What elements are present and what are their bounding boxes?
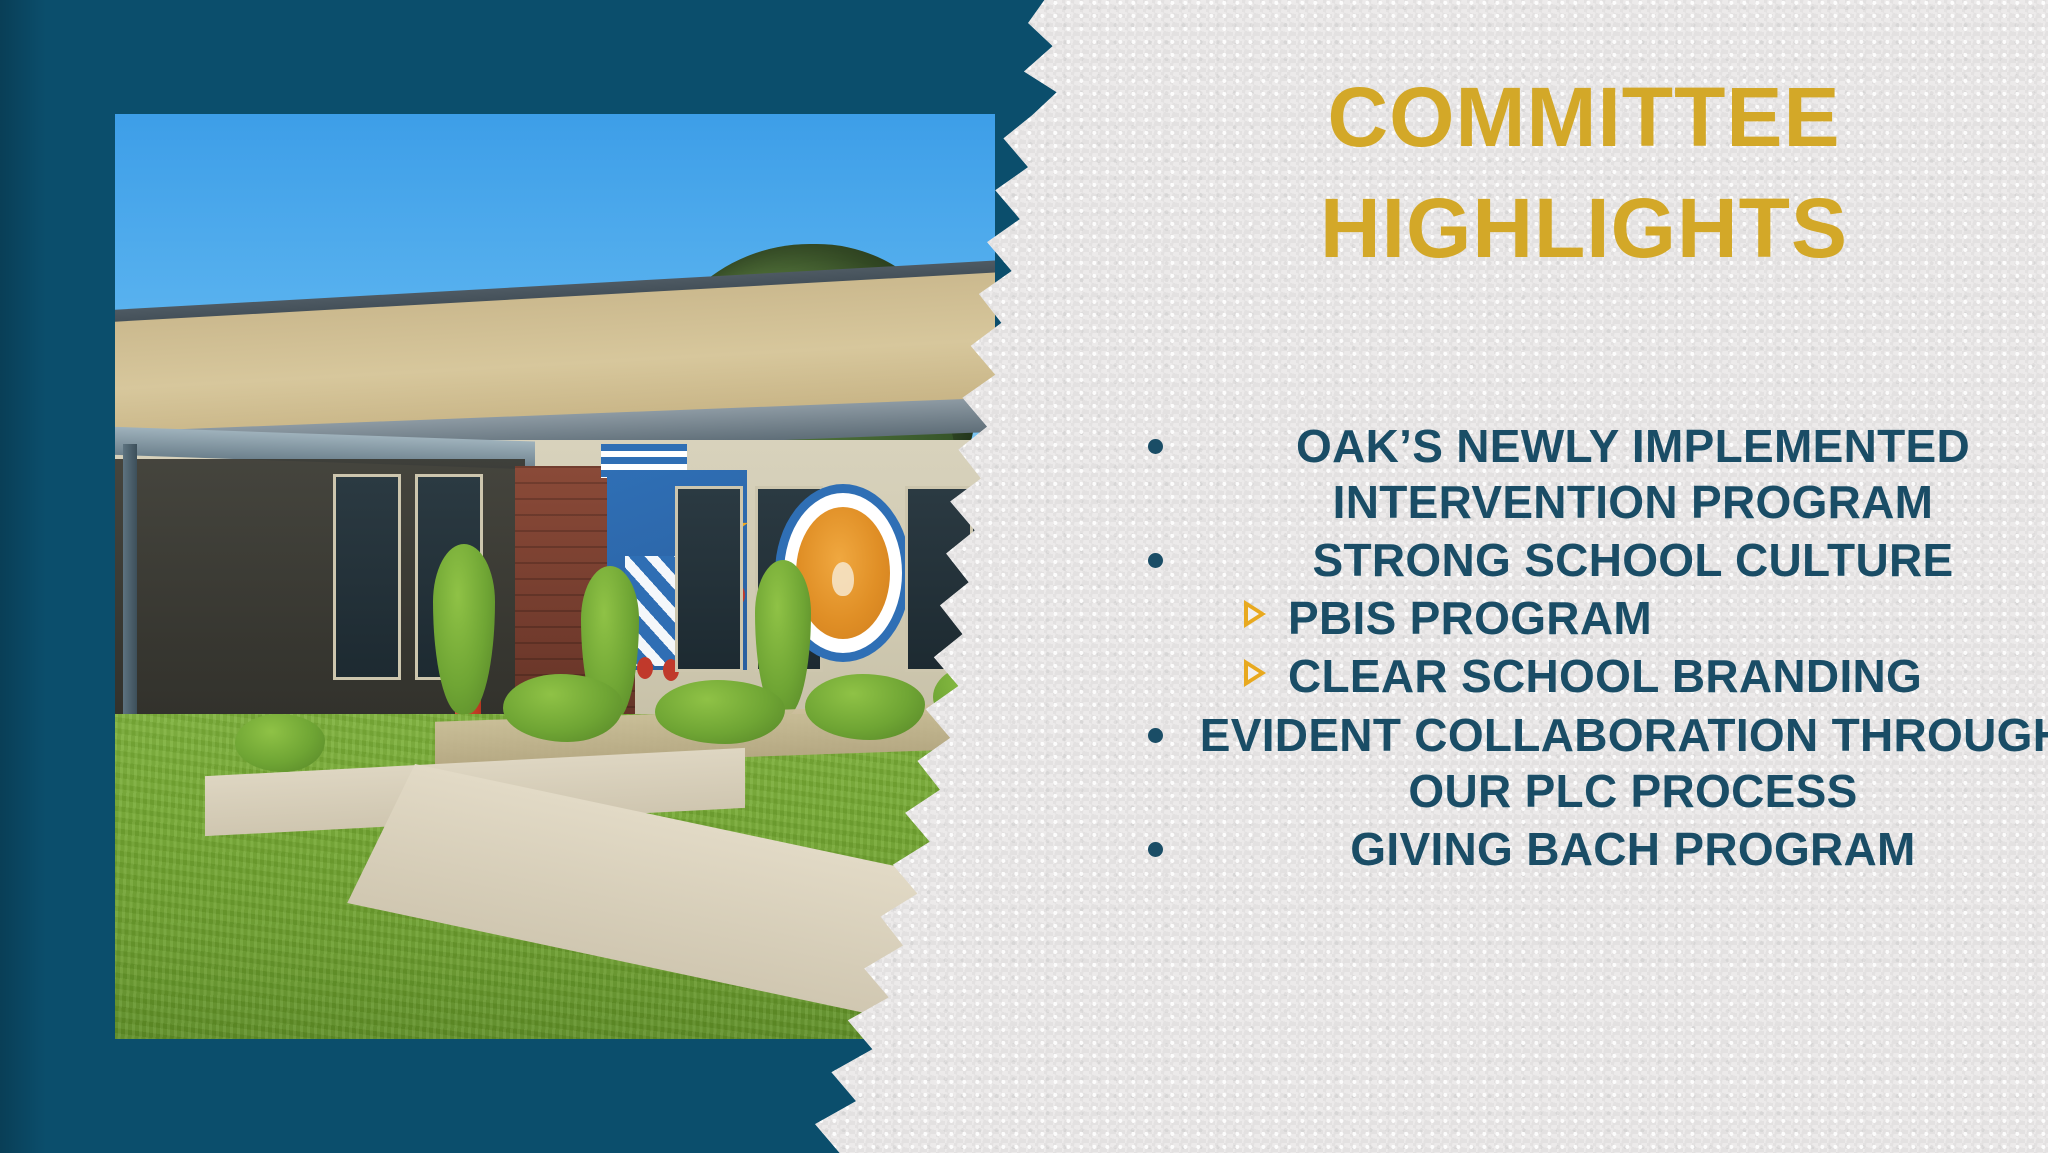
sub-list-item: PBIS PROGRAM xyxy=(1140,590,2048,646)
sub-list-item: CLEAR SCHOOL BRANDING xyxy=(1140,648,2048,704)
shrub xyxy=(235,714,325,772)
bullet-dot-icon xyxy=(1148,553,1163,568)
list-item-label: GIVING BACH PROGRAM xyxy=(1350,823,1915,875)
bullet-dot-icon xyxy=(1148,728,1163,743)
title-line-2: HIGHLIGHTS xyxy=(1120,173,2048,284)
list-item: GIVING BACH PROGRAM xyxy=(1140,821,2048,877)
triangle-bullet-icon xyxy=(1244,659,1266,687)
list-item-label: EVIDENT COLLABORATION THROUGH OUR PLC PR… xyxy=(1200,709,2048,817)
list-item: STRONG SCHOOL CULTURE xyxy=(1140,532,2048,588)
list-item: EVIDENT COLLABORATION THROUGH OUR PLC PR… xyxy=(1140,707,2048,819)
triangle-bullet-icon xyxy=(1244,600,1266,628)
presentation-slide: COMMITTEE HIGHLIGHTS OAK’S NEWLY IMPLEME… xyxy=(0,0,2048,1153)
sub-list-item-label: CLEAR SCHOOL BRANDING xyxy=(1288,650,1922,702)
window xyxy=(333,474,401,680)
list-item-label: OAK’S NEWLY IMPLEMENTED INTERVENTION PRO… xyxy=(1296,420,1970,528)
window xyxy=(675,486,743,672)
bullet-dot-icon xyxy=(1148,439,1163,454)
list-item-label: STRONG SCHOOL CULTURE xyxy=(1313,534,1954,586)
highlights-list: OAK’S NEWLY IMPLEMENTED INTERVENTION PRO… xyxy=(1140,418,2048,879)
mural-dot xyxy=(637,657,653,679)
list-item: OAK’S NEWLY IMPLEMENTED INTERVENTION PRO… xyxy=(1140,418,2048,530)
bullet-dot-icon xyxy=(1148,842,1163,857)
shrub xyxy=(503,674,623,742)
school-photo xyxy=(115,114,995,1039)
shrub xyxy=(655,680,785,744)
title-line-1: COMMITTEE xyxy=(1120,62,2048,173)
school-logo-mark xyxy=(832,562,854,596)
page-title: COMMITTEE HIGHLIGHTS xyxy=(1120,62,2048,284)
shrub xyxy=(805,674,925,740)
sub-list-item-label: PBIS PROGRAM xyxy=(1288,592,1652,644)
